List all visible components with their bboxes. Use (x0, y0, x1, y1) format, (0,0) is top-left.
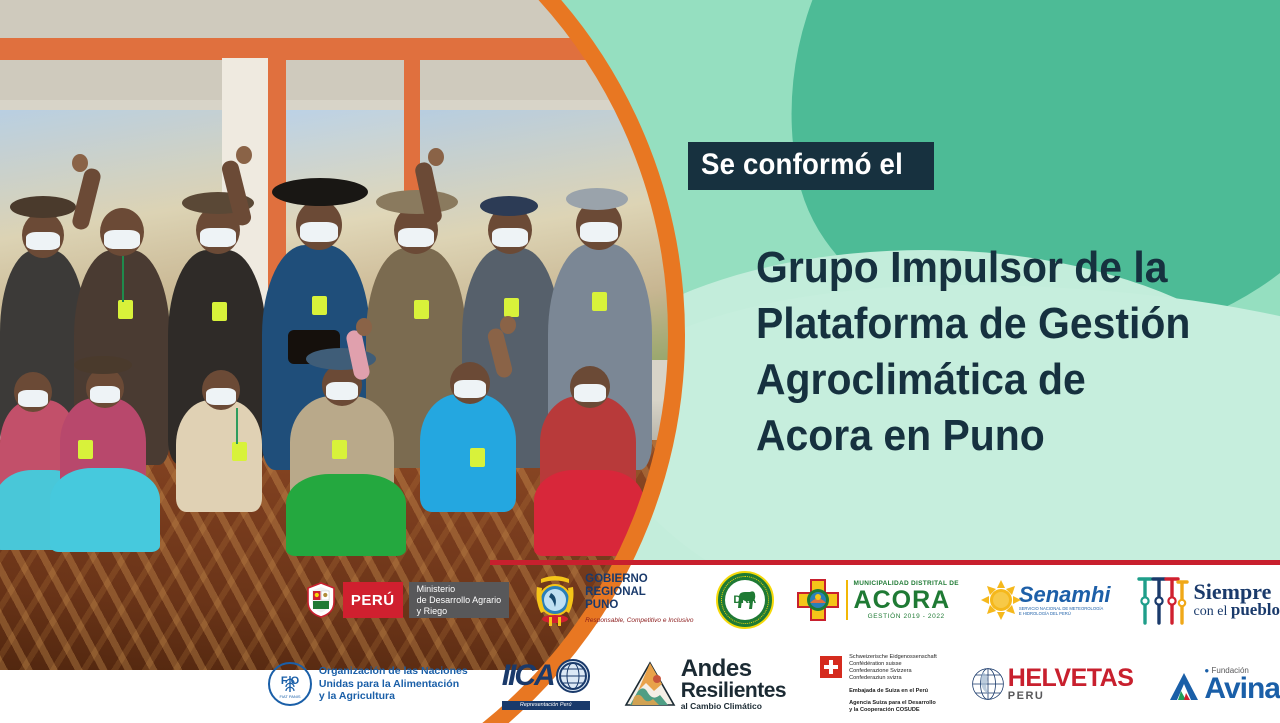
grp-text-block: GOBIERNO REGIONAL PUNO Responsable, Comp… (585, 573, 693, 627)
logo-band-secondary: F O FIAT PANIS Organización de las Nacio… (0, 648, 1280, 720)
logo-gobierno-regional-puno: GOBIERNO REGIONAL PUNO Responsable, Comp… (531, 573, 693, 627)
senamhi-subtitle-2: E HIDROLOGÍA DEL PERÚ (1019, 611, 1111, 616)
swiss-flag-icon (820, 656, 842, 678)
iica-globe-icon (556, 659, 590, 693)
avina-mark-icon (1167, 669, 1201, 703)
fao-line-3: y la Agricultura (319, 690, 468, 703)
puno-coat-of-arms-icon (531, 573, 579, 627)
helvetas-text-block: HELVETAS PERU (1008, 666, 1134, 702)
cosude-line-rm: Confederaziun svizra (849, 675, 937, 682)
acora-municipal-seal-icon (796, 578, 840, 622)
siempre-line-1: Siempre (1194, 581, 1272, 602)
midagri-ministry-text: Ministerio de Desarrollo Agrario y Riego (409, 582, 510, 618)
peru-coat-of-arms-icon (305, 582, 337, 618)
cosude-line-de: Schweizerische Eidgenossenschaft (849, 654, 937, 661)
logo-iica: IICA Representación Perú (502, 659, 590, 710)
acora-bottom-line: GESTIÓN 2019 - 2022 (854, 613, 959, 620)
logo-siempre-con-el-pueblo: Siempre con el pueblo (1133, 573, 1280, 627)
avina-text-block: ● Fundación Avina (1204, 666, 1280, 703)
helvetas-wordmark: HELVETAS (1008, 666, 1134, 690)
logo-avina: ● Fundación Avina (1167, 666, 1280, 703)
avina-wordmark: Avina (1204, 675, 1280, 703)
andes-line-2: Resilientes (681, 680, 786, 701)
kicker-banner: Se conformó el (688, 142, 934, 190)
cosude-line-it: Confederazione Svizzera (849, 668, 937, 675)
cosude-text-block: Schweizerische Eidgenossenschaft Confédé… (849, 654, 937, 714)
poster-canvas: Se conformó el Grupo Impulsor de la Plat… (0, 0, 1280, 723)
fao-line-2: Unidas para la Alimentación (319, 678, 468, 691)
fao-line-1: Organización de las Naciones (319, 665, 468, 678)
andes-mountain-icon (624, 661, 676, 707)
iica-wordmark: IICA (502, 661, 554, 691)
peru-wordmark: PERÚ (343, 582, 403, 618)
headline-line-2: Plataforma de Gestión (756, 296, 1221, 352)
cosude-line-fr: Confédération suisse (849, 661, 937, 668)
midagri-line-2: de Desarrollo Agrario (417, 595, 502, 606)
cosude-embassy-line: Embajada de Suiza en el Perú (849, 688, 937, 695)
logo-band-primary: PERÚ Ministerio de Desarrollo Agrario y … (0, 566, 1280, 634)
svg-text:FIAT PANIS: FIAT PANIS (279, 694, 300, 699)
acora-name: ACORA (854, 587, 959, 613)
iica-mark-row: IICA (502, 659, 590, 693)
siempre-pueblo: pueblo (1231, 600, 1280, 619)
logo-midagri: PERÚ Ministerio de Desarrollo Agrario y … (305, 580, 509, 620)
kicker-text: Se conformó el (701, 148, 903, 182)
andes-line-1: Andes (681, 658, 786, 680)
logo-senamhi: Senamhi SERVICIO NACIONAL DE METEOROLOGÍ… (981, 580, 1111, 620)
grp-line-3: PUNO (585, 599, 693, 612)
grp-tagline: Responsable, Competitivo e Inclusivo (585, 614, 693, 627)
acora-text-block: MUNICIPALIDAD DISTRITAL DE ACORA GESTIÓN… (846, 580, 959, 620)
siempre-con-el: con el (1194, 604, 1228, 619)
fao-wheat-icon: F O FIAT PANIS (273, 667, 307, 701)
red-divider-rule (490, 560, 1280, 565)
andes-line-3: al Cambio Climático (681, 701, 786, 711)
cosude-agency-line-1: Agencia Suiza para el Desarrollo (849, 700, 937, 707)
senamhi-wordmark: Senamhi (1019, 584, 1111, 606)
midagri-line-3: y Riego (417, 606, 502, 617)
headline-line-4: Acora en Puno (756, 408, 1221, 464)
headline-line-1: Grupo Impulsor de la (756, 240, 1221, 296)
siempre-people-icon (1133, 573, 1189, 627)
siempre-line-2: con el pueblo (1194, 602, 1280, 619)
helvetas-globe-icon (971, 667, 1005, 701)
logo-municipalidad-acora: MUNICIPALIDAD DISTRITAL DE ACORA GESTIÓN… (796, 578, 959, 622)
logo-helvetas: HELVETAS PERU (971, 666, 1134, 702)
logo-cosude: Schweizerische Eidgenossenschaft Confédé… (820, 654, 937, 714)
dra-acronym: DRA (733, 594, 755, 606)
senamhi-sun-icon (981, 580, 1021, 620)
iica-subtitle-bar: Representación Perú (502, 701, 590, 710)
grp-line-2: REGIONAL (585, 586, 693, 599)
andes-text-block: Andes Resilientes al Cambio Climático (681, 658, 786, 711)
midagri-line-1: Ministerio (417, 584, 502, 595)
page-title: Grupo Impulsor de la Plataforma de Gesti… (756, 240, 1256, 464)
headline-line-3: Agroclimática de (756, 352, 1221, 408)
logo-dra-puno: DRA (716, 571, 774, 629)
helvetas-country: PERU (1008, 690, 1045, 702)
senamhi-text-block: Senamhi SERVICIO NACIONAL DE METEOROLOGÍ… (1027, 584, 1111, 616)
logo-fao: F O FIAT PANIS Organización de las Nacio… (268, 662, 468, 706)
cosude-agency-line-2: y la Cooperación COSUDE (849, 707, 937, 714)
fao-emblem-icon: F O FIAT PANIS (268, 662, 312, 706)
dra-seal: DRA (716, 571, 774, 629)
siempre-text-block: Siempre con el pueblo (1194, 581, 1280, 619)
fao-text-block: Organización de las Naciones Unidas para… (319, 665, 468, 703)
logo-andes-resilientes: Andes Resilientes al Cambio Climático (624, 658, 786, 711)
grp-line-1: GOBIERNO (585, 573, 693, 586)
